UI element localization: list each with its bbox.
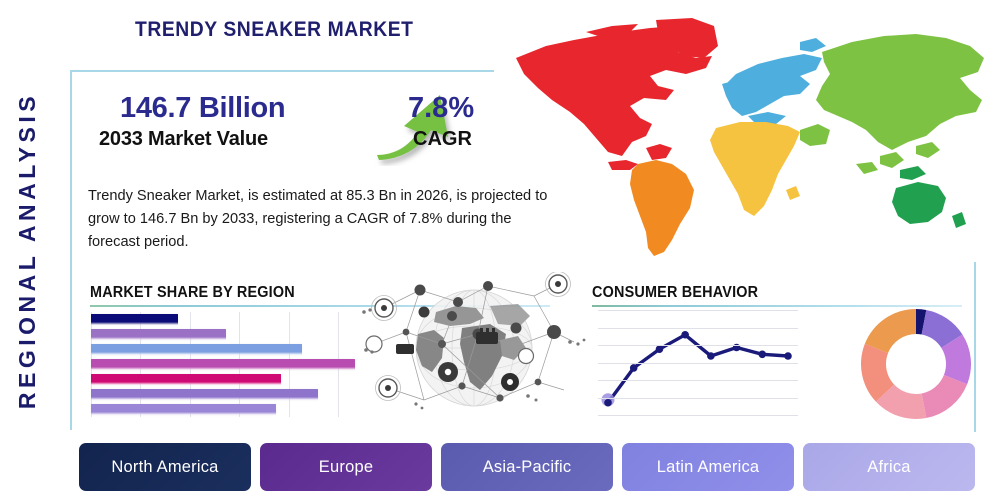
bar-chart-bar <box>91 344 302 355</box>
infographic-root: REGIONAL ANALYSIS TRENDY SNEAKER MARKET … <box>0 0 1000 500</box>
bar-chart-bar <box>91 374 281 385</box>
line-chart-point <box>630 364 638 372</box>
line-chart-gridline <box>598 310 798 311</box>
bar-chart-bar <box>91 404 276 415</box>
line-chart-gridline <box>598 415 798 416</box>
vertical-section-label-text: REGIONAL ANALYSIS <box>15 91 42 408</box>
section-title-consumer-behavior: CONSUMER BEHAVIOR <box>592 284 758 302</box>
line-chart-point <box>784 352 792 360</box>
regions-button-bar: North AmericaEuropeAsia-PacificLatin Ame… <box>79 443 975 491</box>
bar-chart-bar <box>91 389 318 400</box>
vertical-section-label: REGIONAL ANALYSIS <box>0 60 56 440</box>
consumer-behavior-line-chart <box>598 310 798 415</box>
line-chart-gridline <box>598 328 798 329</box>
cagr-figure: 7.8% <box>408 92 474 125</box>
line-chart-gridline <box>598 363 798 364</box>
right-card-border <box>974 262 976 432</box>
consumer-behavior-donut-chart <box>857 305 975 423</box>
global-network-globe-icon <box>358 272 590 424</box>
line-chart-point <box>707 352 715 360</box>
market-description: Trendy Sneaker Market, is estimated at 8… <box>88 185 560 254</box>
region-button-asia-pacific[interactable]: Asia-Pacific <box>441 443 613 491</box>
bar-chart-bar <box>91 359 355 370</box>
region-button-label: Europe <box>319 458 373 477</box>
region-button-europe[interactable]: Europe <box>260 443 432 491</box>
line-chart-gridline <box>598 398 798 399</box>
line-chart-point <box>681 331 689 339</box>
market-share-bar-chart <box>91 312 373 417</box>
region-button-label: North America <box>111 458 218 477</box>
cagr-caption: CAGR <box>413 128 472 151</box>
region-button-latin-america[interactable]: Latin America <box>622 443 794 491</box>
donut-chart-segment <box>865 309 916 353</box>
bar-chart-bar <box>91 314 178 325</box>
world-map-icon <box>500 12 992 274</box>
page-title: TRENDY SNEAKER MARKET <box>135 18 414 42</box>
market-value-caption: 2033 Market Value <box>99 128 268 151</box>
region-button-label: Asia-Pacific <box>483 458 572 477</box>
line-chart-gridline <box>598 345 798 346</box>
donut-chart-svg <box>857 305 975 423</box>
region-button-label: Latin America <box>657 458 760 477</box>
market-value-figure: 146.7 Billion <box>120 92 285 125</box>
line-chart-point <box>604 399 612 407</box>
line-chart-point <box>656 345 664 353</box>
line-chart-gridline <box>598 380 798 381</box>
line-chart-point <box>758 351 766 359</box>
region-button-north-america[interactable]: North America <box>79 443 251 491</box>
region-button-africa[interactable]: Africa <box>803 443 975 491</box>
section-title-market-share: MARKET SHARE BY REGION <box>90 284 295 302</box>
bar-chart-bar <box>91 329 226 340</box>
region-button-label: Africa <box>867 458 910 477</box>
key-stats-row: 146.7 Billion 2033 Market Value 7.8% CAG… <box>78 92 498 170</box>
